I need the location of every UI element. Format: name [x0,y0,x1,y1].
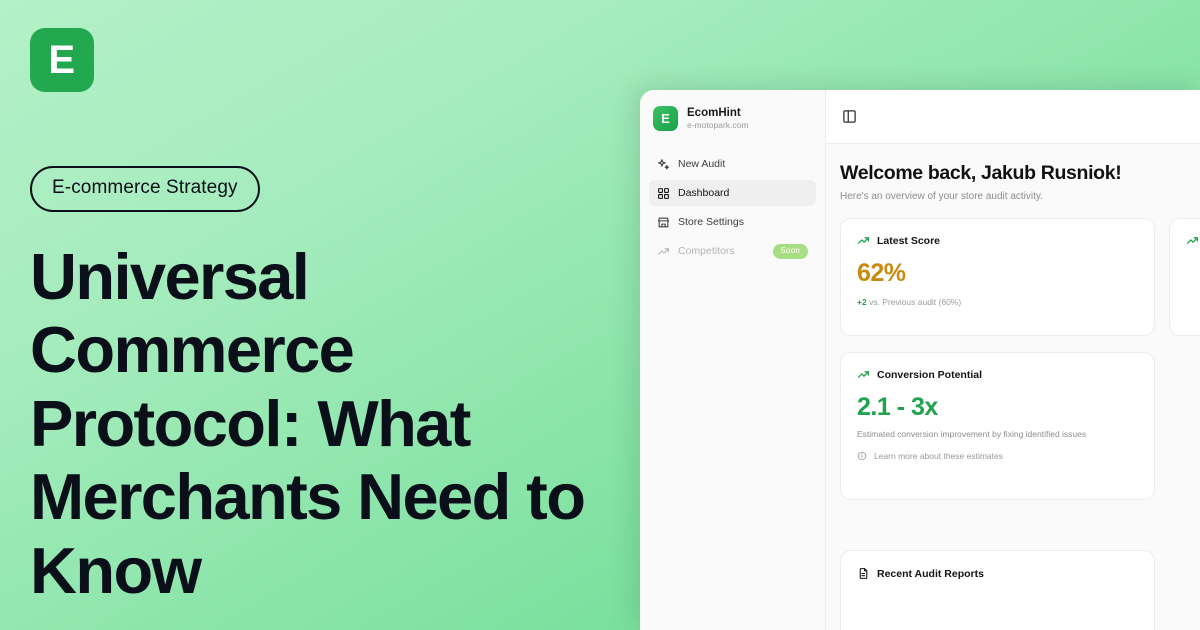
welcome-subtitle: Here's an overview of your store audit a… [840,191,1200,202]
sparkles-icon [657,158,670,171]
card-title: Recent Audit Reports [877,568,984,580]
card-title: Latest Score [877,235,940,247]
card-header: Recent Audit Reports [857,567,1138,580]
score-delta: +2 [857,297,867,307]
sidebar-item-store-settings[interactable]: Store Settings [649,209,816,235]
category-badge: E-commerce Strategy [30,166,260,212]
learn-more-row[interactable]: Learn more about these estimates [857,451,1138,461]
page-title: Universal Commerce Protocol: What Mercha… [30,240,610,607]
status-badge: Soon [773,244,808,259]
card-title: Conversion Potential [877,369,982,381]
card-header [1186,234,1200,247]
sidebar-brand-name: EcomHint [687,106,748,120]
secondary-metric-card[interactable] [1169,218,1200,336]
conversion-potential-description: Estimated conversion improvement by fixi… [857,429,1138,439]
sidebar-item-label: Dashboard [678,187,808,199]
sidebar: E EcomHint e-motopark.com New Audit [640,90,826,630]
trending-up-icon [1186,234,1199,247]
sidebar-brand-domain: e-motopark.com [687,120,748,131]
sidebar-brand-logo: E [653,106,678,131]
main-pane: Welcome back, Jakub Rusniok! Here's an o… [826,90,1200,630]
topbar [826,90,1200,144]
trending-up-icon [857,368,870,381]
latest-score-card[interactable]: Latest Score 62% +2 vs. Previous audit (… [840,218,1155,336]
card-header: Conversion Potential [857,368,1138,381]
grid-icon [657,187,670,200]
conversion-potential-value: 2.1 - 3x [857,395,1138,420]
metric-card-row-2: Conversion Potential 2.1 - 3x Estimated … [840,352,1200,500]
sidebar-item-dashboard[interactable]: Dashboard [649,180,816,206]
learn-more-label: Learn more about these estimates [874,451,1003,461]
metric-card-row-1: Latest Score 62% +2 vs. Previous audit (… [840,218,1200,336]
sidebar-item-label: Store Settings [678,216,808,228]
sidebar-item-label: Competitors [678,245,765,257]
sidebar-item-new-audit[interactable]: New Audit [649,151,816,177]
document-icon [857,567,870,580]
dashboard-content: Welcome back, Jakub Rusniok! Here's an o… [826,144,1200,630]
panel-left-icon[interactable] [842,109,857,124]
card-header: Latest Score [857,234,1138,247]
score-note-rest: vs. Previous audit (60%) [869,297,961,307]
latest-score-value: 62% [857,261,1138,286]
sidebar-brand[interactable]: E EcomHint e-motopark.com [649,104,816,131]
store-icon [657,216,670,229]
welcome-heading: Welcome back, Jakub Rusniok! [840,162,1200,185]
recent-audit-reports-card[interactable]: Recent Audit Reports [840,550,1155,630]
sidebar-item-label: New Audit [678,158,808,170]
conversion-potential-card[interactable]: Conversion Potential 2.1 - 3x Estimated … [840,352,1155,500]
promo-screenshot: E E-commerce Strategy Universal Commerce… [0,0,1200,630]
brand-logo: E [30,28,94,92]
app-window: E EcomHint e-motopark.com New Audit [640,90,1200,630]
sidebar-item-competitors[interactable]: Competitors Soon [649,238,816,264]
trending-up-icon [857,234,870,247]
trending-up-icon [657,245,670,258]
latest-score-note: +2 vs. Previous audit (60%) [857,297,1138,307]
promo-panel: E E-commerce Strategy Universal Commerce… [0,0,640,630]
info-icon [857,451,867,461]
